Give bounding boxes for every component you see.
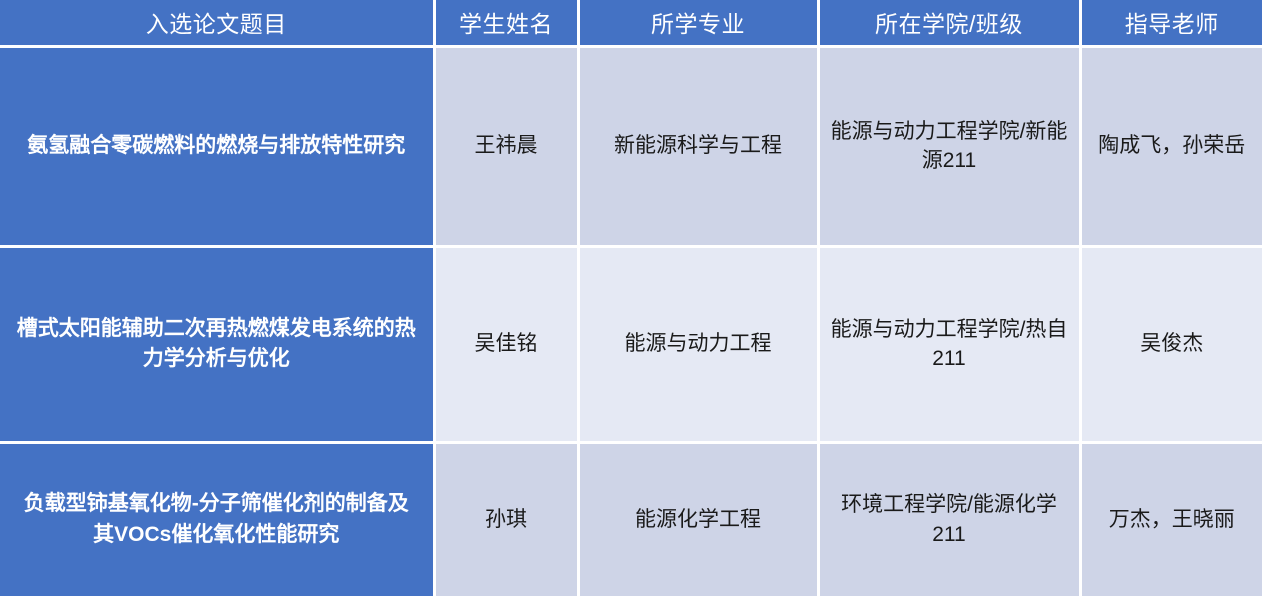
selected-papers-table: 入选论文题目 学生姓名 所学专业 所在学院/班级 指导老师 氨氢融合零碳燃料的燃… [0, 0, 1262, 596]
cell-college-class: 能源与动力工程学院/热自211 [818, 246, 1080, 442]
header-advisor: 指导老师 [1080, 0, 1262, 46]
cell-college-class: 能源与动力工程学院/新能源211 [818, 46, 1080, 246]
table-row: 槽式太阳能辅助二次再热燃煤发电系统的热力学分析与优化 吴佳铭 能源与动力工程 能… [0, 246, 1262, 442]
cell-advisor: 陶成飞，孙荣岳 [1080, 46, 1262, 246]
cell-major: 能源与动力工程 [578, 246, 818, 442]
cell-student-name: 王祎晨 [434, 46, 578, 246]
cell-college-class: 环境工程学院/能源化学211 [818, 442, 1080, 596]
cell-advisor: 万杰，王晓丽 [1080, 442, 1262, 596]
table-body: 氨氢融合零碳燃料的燃烧与排放特性研究 王祎晨 新能源科学与工程 能源与动力工程学… [0, 46, 1262, 596]
table-container: 入选论文题目 学生姓名 所学专业 所在学院/班级 指导老师 氨氢融合零碳燃料的燃… [0, 0, 1262, 596]
header-paper-title: 入选论文题目 [0, 0, 434, 46]
cell-paper-title: 槽式太阳能辅助二次再热燃煤发电系统的热力学分析与优化 [0, 246, 434, 442]
cell-paper-title: 负载型铈基氧化物-分子筛催化剂的制备及其VOCs催化氧化性能研究 [0, 442, 434, 596]
cell-advisor: 吴俊杰 [1080, 246, 1262, 442]
table-row: 氨氢融合零碳燃料的燃烧与排放特性研究 王祎晨 新能源科学与工程 能源与动力工程学… [0, 46, 1262, 246]
cell-paper-title: 氨氢融合零碳燃料的燃烧与排放特性研究 [0, 46, 434, 246]
cell-major: 新能源科学与工程 [578, 46, 818, 246]
header-row: 入选论文题目 学生姓名 所学专业 所在学院/班级 指导老师 [0, 0, 1262, 46]
header-student-name: 学生姓名 [434, 0, 578, 46]
cell-student-name: 孙琪 [434, 442, 578, 596]
table-header: 入选论文题目 学生姓名 所学专业 所在学院/班级 指导老师 [0, 0, 1262, 46]
table-row: 负载型铈基氧化物-分子筛催化剂的制备及其VOCs催化氧化性能研究 孙琪 能源化学… [0, 442, 1262, 596]
header-major: 所学专业 [578, 0, 818, 46]
header-college-class: 所在学院/班级 [818, 0, 1080, 46]
cell-student-name: 吴佳铭 [434, 246, 578, 442]
cell-major: 能源化学工程 [578, 442, 818, 596]
